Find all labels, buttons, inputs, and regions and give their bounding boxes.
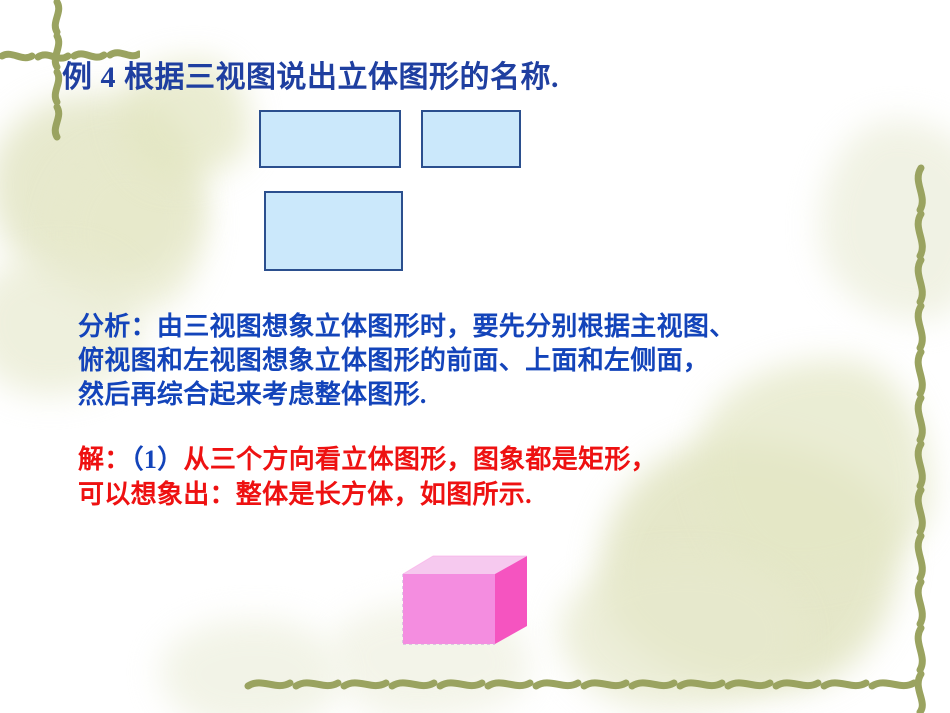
cuboid-front-face [403, 574, 495, 644]
top-view-rect [264, 191, 403, 271]
vine-decoration-right [910, 0, 932, 713]
front-view-rect [259, 110, 401, 168]
solution-line-1-rest: 从三个方向看立体图形，图象都是矩形， [184, 445, 657, 474]
analysis-line: 然后再综合起来考虑整体图形. [78, 378, 736, 412]
analysis-line: 分析：由三视图想象立体图形时，要先分别根据主视图、 [78, 310, 736, 344]
side-view-rect [421, 110, 521, 168]
vine-decoration-bottom [0, 673, 950, 695]
solution-prefix: 解： [78, 445, 131, 474]
watermark-blob [160, 620, 340, 713]
slide-canvas: 例 4 根据三视图说出立体图形的名称. 分析：由三视图想象立体图形时，要先分别根… [0, 0, 950, 713]
solution-item-number: （1） [131, 445, 184, 474]
cuboid-svg [395, 552, 535, 664]
cuboid-figure [395, 552, 535, 664]
solution-line-2: 可以想象出：整体是长方体，如图所示. [78, 477, 657, 512]
analysis-paragraph: 分析：由三视图想象立体图形时，要先分别根据主视图、 俯视图和左视图想象立体图形的… [78, 310, 736, 412]
vine-decoration-topleft [0, 0, 140, 210]
solution-paragraph: 解：（1）从三个方向看立体图形，图象都是矩形， 可以想象出：整体是长方体，如图所… [78, 442, 657, 512]
analysis-line: 俯视图和左视图想象立体图形的前面、上面和左侧面， [78, 344, 736, 378]
solution-line-1: 解：（1）从三个方向看立体图形，图象都是矩形， [78, 442, 657, 477]
page-title: 例 4 根据三视图说出立体图形的名称. [62, 52, 559, 96]
